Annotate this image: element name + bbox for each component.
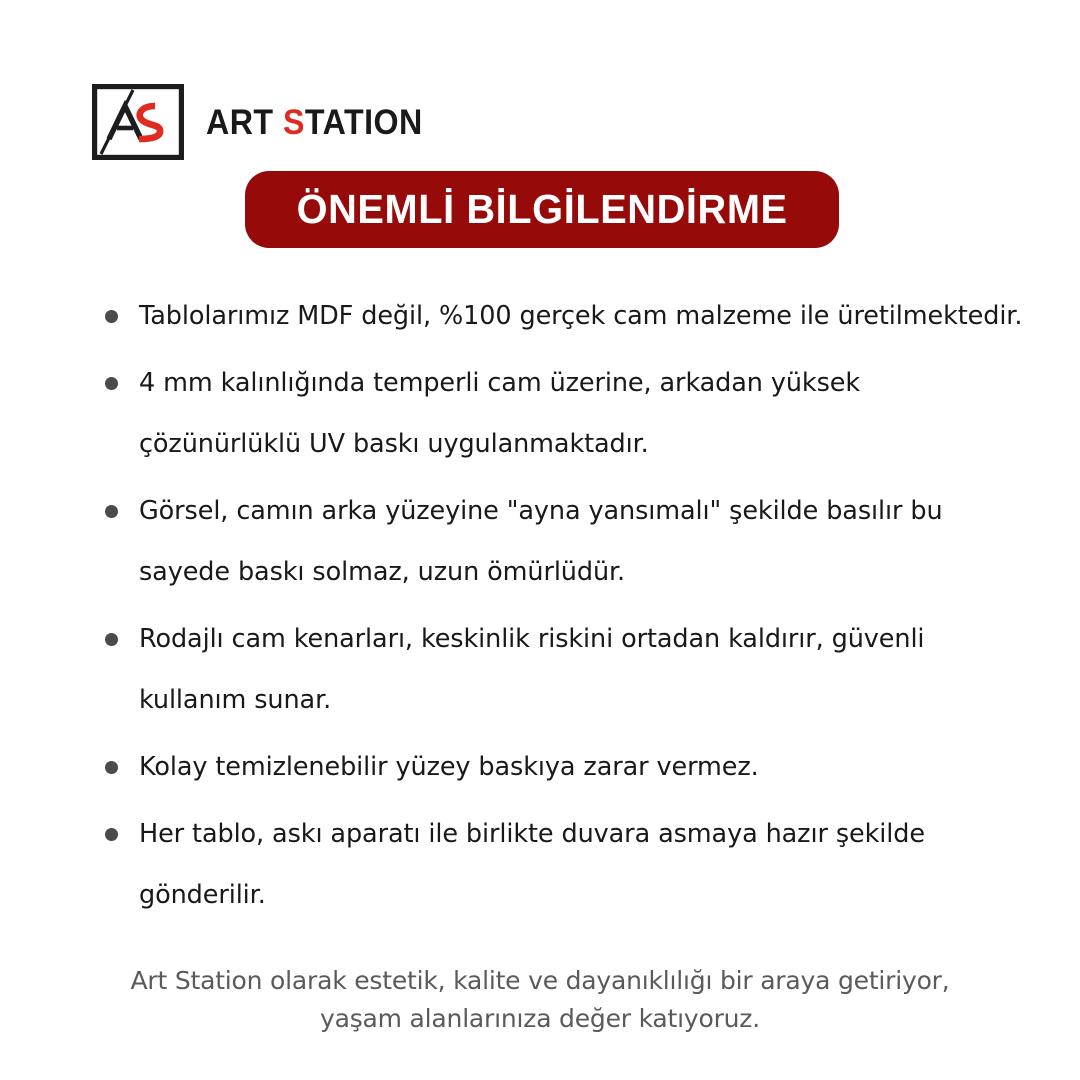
bullet-dot-icon — [105, 761, 118, 774]
list-item: Rodajlı cam kenarları, keskinlik riskini… — [99, 609, 1029, 731]
list-item-text: 4 mm kalınlığında temperli cam üzerine, … — [139, 353, 1029, 475]
list-item-text: Her tablo, askı aparatı ile birlikte duv… — [139, 804, 1029, 926]
footer-line-1: Art Station olarak estetik, kalite ve da… — [0, 962, 1080, 1000]
wordmark-part-2: TATION — [305, 103, 423, 142]
bullet-dot-icon — [105, 828, 118, 841]
notice-banner: ÖNEMLİ BİLGİLENDİRME — [245, 171, 839, 248]
bullet-dot-icon — [105, 310, 118, 323]
banner-title: ÖNEMLİ BİLGİLENDİRME — [296, 189, 787, 230]
list-item-text: Rodajlı cam kenarları, keskinlik riskini… — [139, 609, 1029, 731]
footer-line-2: yaşam alanlarınıza değer katıyoruz. — [0, 1000, 1080, 1038]
bullet-dot-icon — [105, 377, 118, 390]
brand-logo: ART STATION — [92, 84, 442, 160]
list-item: 4 mm kalınlığında temperli cam üzerine, … — [99, 353, 1029, 475]
info-bullet-list: Tablolarımız MDF değil, %100 gerçek cam … — [99, 286, 1029, 932]
list-item: Görsel, camın arka yüzeyine "ayna yansım… — [99, 481, 1029, 603]
footer-tagline: Art Station olarak estetik, kalite ve da… — [0, 962, 1080, 1038]
wordmark-part-1: ART — [206, 103, 283, 142]
list-item-text: Kolay temizlenebilir yüzey baskıya zarar… — [139, 737, 1029, 798]
brand-wordmark: ART STATION — [206, 105, 423, 140]
list-item: Her tablo, askı aparatı ile birlikte duv… — [99, 804, 1029, 926]
bullet-dot-icon — [105, 633, 118, 646]
as-monogram-logo-icon — [92, 84, 184, 160]
list-item: Tablolarımız MDF değil, %100 gerçek cam … — [99, 286, 1029, 347]
list-item-text: Görsel, camın arka yüzeyine "ayna yansım… — [139, 481, 1029, 603]
list-item-text: Tablolarımız MDF değil, %100 gerçek cam … — [139, 286, 1029, 347]
bullet-dot-icon — [105, 505, 118, 518]
infographic-page: ART STATION ÖNEMLİ BİLGİLENDİRME Tablola… — [0, 0, 1080, 1080]
wordmark-accent-letter: S — [283, 103, 305, 142]
list-item: Kolay temizlenebilir yüzey baskıya zarar… — [99, 737, 1029, 798]
